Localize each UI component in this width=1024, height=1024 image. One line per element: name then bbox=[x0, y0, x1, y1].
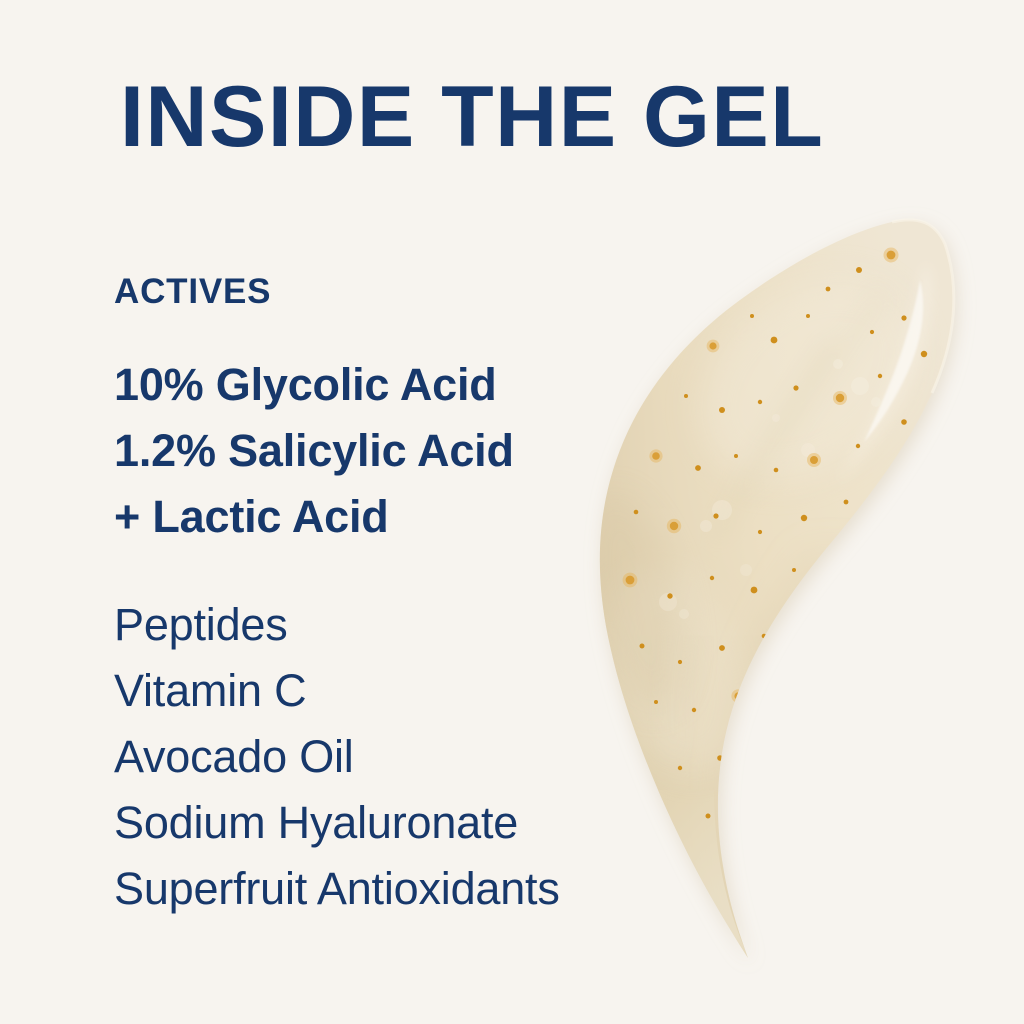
supporting-list-item: Avocado Oil bbox=[114, 724, 560, 790]
page-title: INSIDE THE GEL bbox=[120, 70, 824, 164]
actives-ingredient-list: 10% Glycolic Acid 1.2% Salicylic Acid + … bbox=[114, 352, 514, 550]
actives-list-item: + Lactic Acid bbox=[114, 484, 514, 550]
actives-list-item: 1.2% Salicylic Acid bbox=[114, 418, 514, 484]
actives-heading: ACTIVES bbox=[114, 272, 271, 312]
supporting-list-item: Superfruit Antioxidants bbox=[114, 856, 560, 922]
supporting-list-item: Vitamin C bbox=[114, 658, 560, 724]
actives-list-item: 10% Glycolic Acid bbox=[114, 352, 514, 418]
inside-the-gel-graphic: INSIDE THE GEL ACTIVES 10% Glycolic Acid… bbox=[0, 0, 1024, 1024]
supporting-list-item: Sodium Hyaluronate bbox=[114, 790, 560, 856]
supporting-list-item: Peptides bbox=[114, 592, 560, 658]
supporting-ingredient-list: Peptides Vitamin C Avocado Oil Sodium Hy… bbox=[114, 592, 560, 922]
gel-swatch-image bbox=[508, 150, 1008, 980]
